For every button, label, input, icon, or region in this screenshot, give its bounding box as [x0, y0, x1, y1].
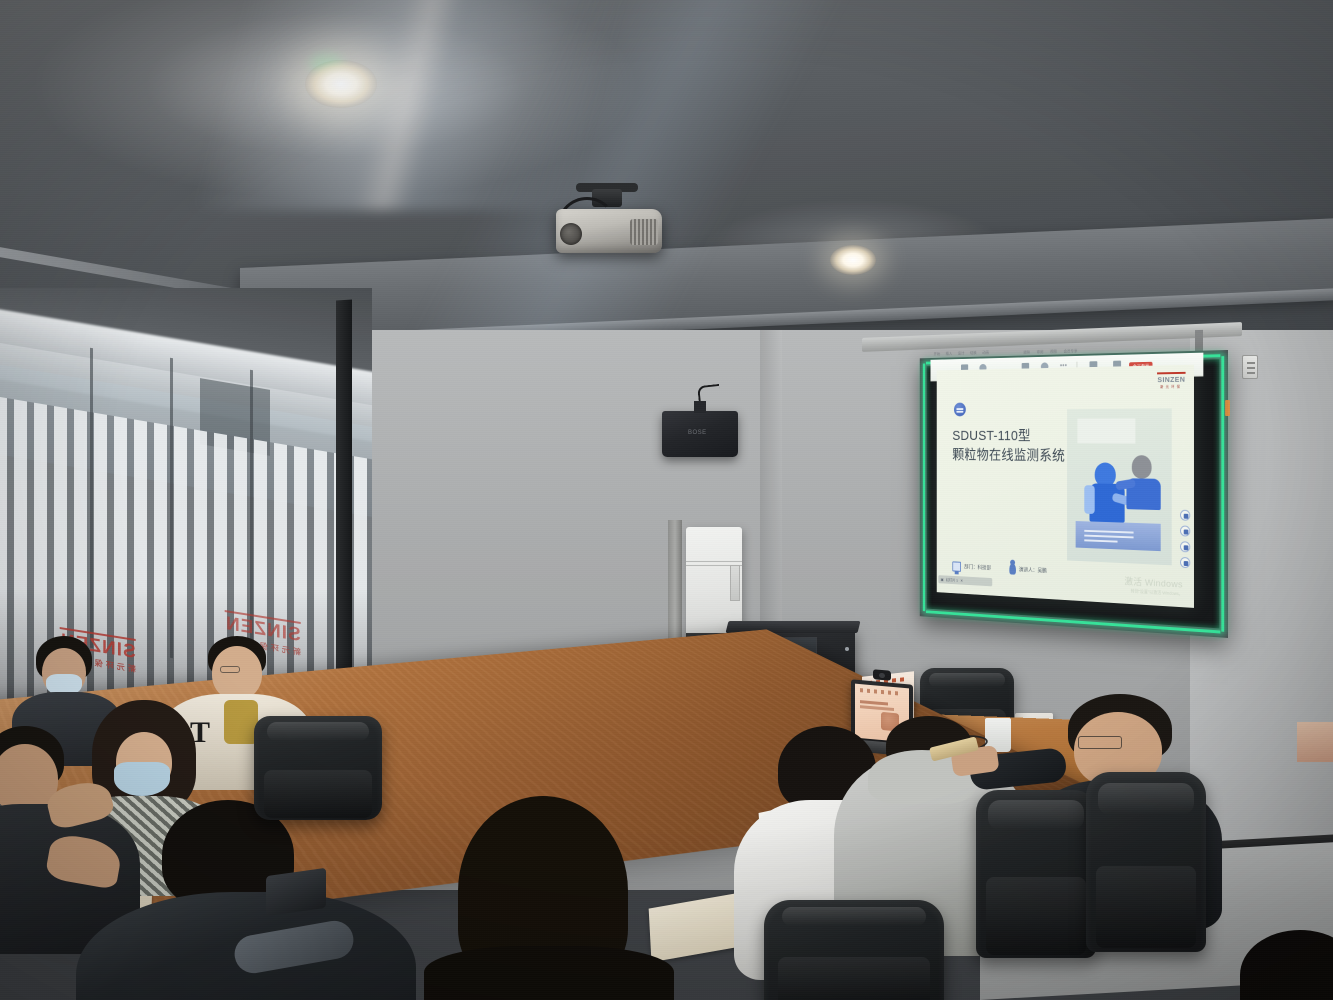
rack-indicator-led — [845, 647, 849, 651]
ribbon-tab[interactable]: 设计 — [958, 351, 965, 357]
sidebar-button-theme[interactable] — [1180, 541, 1190, 552]
laptop-screen-header — [860, 688, 902, 696]
slide-bullet-logo-icon — [954, 403, 966, 417]
figure-head — [1132, 455, 1152, 479]
brand-name-cn: 新元环保 — [1157, 384, 1186, 389]
projector — [556, 205, 662, 261]
socket-slot — [1247, 362, 1255, 364]
illustration-desk — [1076, 521, 1161, 551]
wall-socket[interactable] — [1242, 355, 1258, 379]
glasses — [220, 666, 240, 673]
screen-led-trim — [923, 364, 925, 612]
tablet[interactable] — [266, 868, 326, 916]
slide-sidebar-toolbar[interactable] — [1180, 510, 1190, 569]
illustration-figure-left — [1086, 462, 1126, 522]
hair — [1240, 930, 1333, 1000]
slide-brand-logo: SINZEN 新元环保 — [1157, 372, 1186, 389]
desk-line — [1084, 535, 1133, 538]
person-foreground-partial — [1240, 930, 1333, 1000]
person-front-near-back — [96, 800, 396, 1000]
ceiling-downlight — [305, 60, 377, 108]
torso — [424, 946, 674, 1000]
chair-highlight — [929, 673, 1004, 687]
chair-highlight — [1098, 783, 1194, 815]
slide-thumb-icon: ▣ — [941, 577, 944, 582]
projection-screen: 开始 插入 设计 切换 动画 放映 审阅 视图 会员专享 文本 图片 形状 — [920, 350, 1228, 638]
socket-slot — [1247, 367, 1255, 369]
hoodie-collar — [224, 700, 258, 744]
illustration-figure-right — [1125, 455, 1163, 510]
wall-speaker: BOSE — [662, 411, 738, 457]
ribbon-tab[interactable]: 视图 — [1050, 349, 1057, 355]
slide-meta-department: 部门：科技部 — [952, 561, 991, 573]
chair-highlight — [988, 800, 1084, 830]
slide-meta-speaker: 演讲人：吴鹏 — [1009, 563, 1047, 576]
webcam-icon — [873, 669, 891, 681]
screen-led-trim — [1221, 356, 1224, 632]
slide-canvas[interactable]: SINZEN 新元环保 SDUST-110型 颗粒物在线监测系统 — [937, 365, 1194, 608]
meta-text: 部门：科技部 — [964, 563, 991, 572]
person-front-mid-back — [420, 796, 680, 1000]
ribbon-tab[interactable]: 会员专享 — [1064, 348, 1078, 354]
meta-text: 演讲人：吴鹏 — [1019, 566, 1047, 575]
ribbon-tab[interactable]: 切换 — [970, 350, 977, 356]
ppt-status-bar: ▣ 幻灯片 1 ✕ — [938, 575, 992, 586]
figure-chair-back — [1084, 485, 1094, 514]
projector-lens — [560, 223, 582, 245]
chair-highlight — [267, 722, 369, 741]
scrollbar-thumb[interactable] — [1225, 400, 1230, 416]
ac-control-panel[interactable] — [730, 565, 740, 601]
slide-illustration — [1067, 408, 1172, 565]
illustration-wall-panel — [1077, 418, 1135, 443]
person-icon — [1009, 563, 1016, 574]
ribbon-tab[interactable]: 插入 — [946, 351, 953, 357]
sidebar-button-design[interactable] — [1180, 510, 1190, 521]
brand-name: SINZEN — [1157, 374, 1186, 383]
slide-status-text: 幻灯片 1 — [946, 577, 958, 583]
monitor-icon — [952, 561, 961, 571]
ribbon-tab[interactable]: 开始 — [934, 351, 941, 357]
ceiling-downlight — [830, 245, 876, 275]
windows-activation-watermark: 激活 Windows 转到"设置"以激活 Windows。 — [1124, 574, 1182, 598]
speaker-brand-label: BOSE — [688, 430, 707, 436]
chair[interactable] — [254, 716, 382, 820]
projector-vent — [630, 219, 658, 245]
glasses — [1078, 736, 1122, 749]
laptop-screen-subtitle — [860, 705, 894, 711]
close-icon[interactable]: ✕ — [960, 578, 963, 583]
ac-seam — [686, 561, 742, 562]
chair[interactable] — [1086, 772, 1206, 952]
head — [212, 646, 262, 700]
desk-line — [1084, 539, 1117, 542]
ribbon-tab[interactable]: 动画 — [982, 350, 989, 356]
desk-line — [1084, 530, 1133, 533]
sidebar-button-more[interactable] — [1180, 557, 1190, 568]
socket-slot — [1247, 372, 1255, 374]
ribbon-tab[interactable]: 放映 — [1023, 349, 1030, 355]
chair[interactable] — [976, 790, 1096, 958]
floor-box — [1297, 722, 1333, 762]
conference-room-photo: SINZEN 新元环保 SINZEN 新元环保 BOSE — [0, 0, 1333, 1000]
sidebar-button-layout[interactable] — [1180, 525, 1190, 536]
speaker-bracket — [694, 401, 706, 413]
chair-highlight — [782, 907, 926, 927]
ribbon-tab[interactable]: 审阅 — [1037, 349, 1044, 355]
projector-body — [556, 209, 662, 253]
chair[interactable] — [764, 900, 944, 1000]
slide-meta-row: 部门：科技部 演讲人：吴鹏 — [952, 560, 1046, 576]
